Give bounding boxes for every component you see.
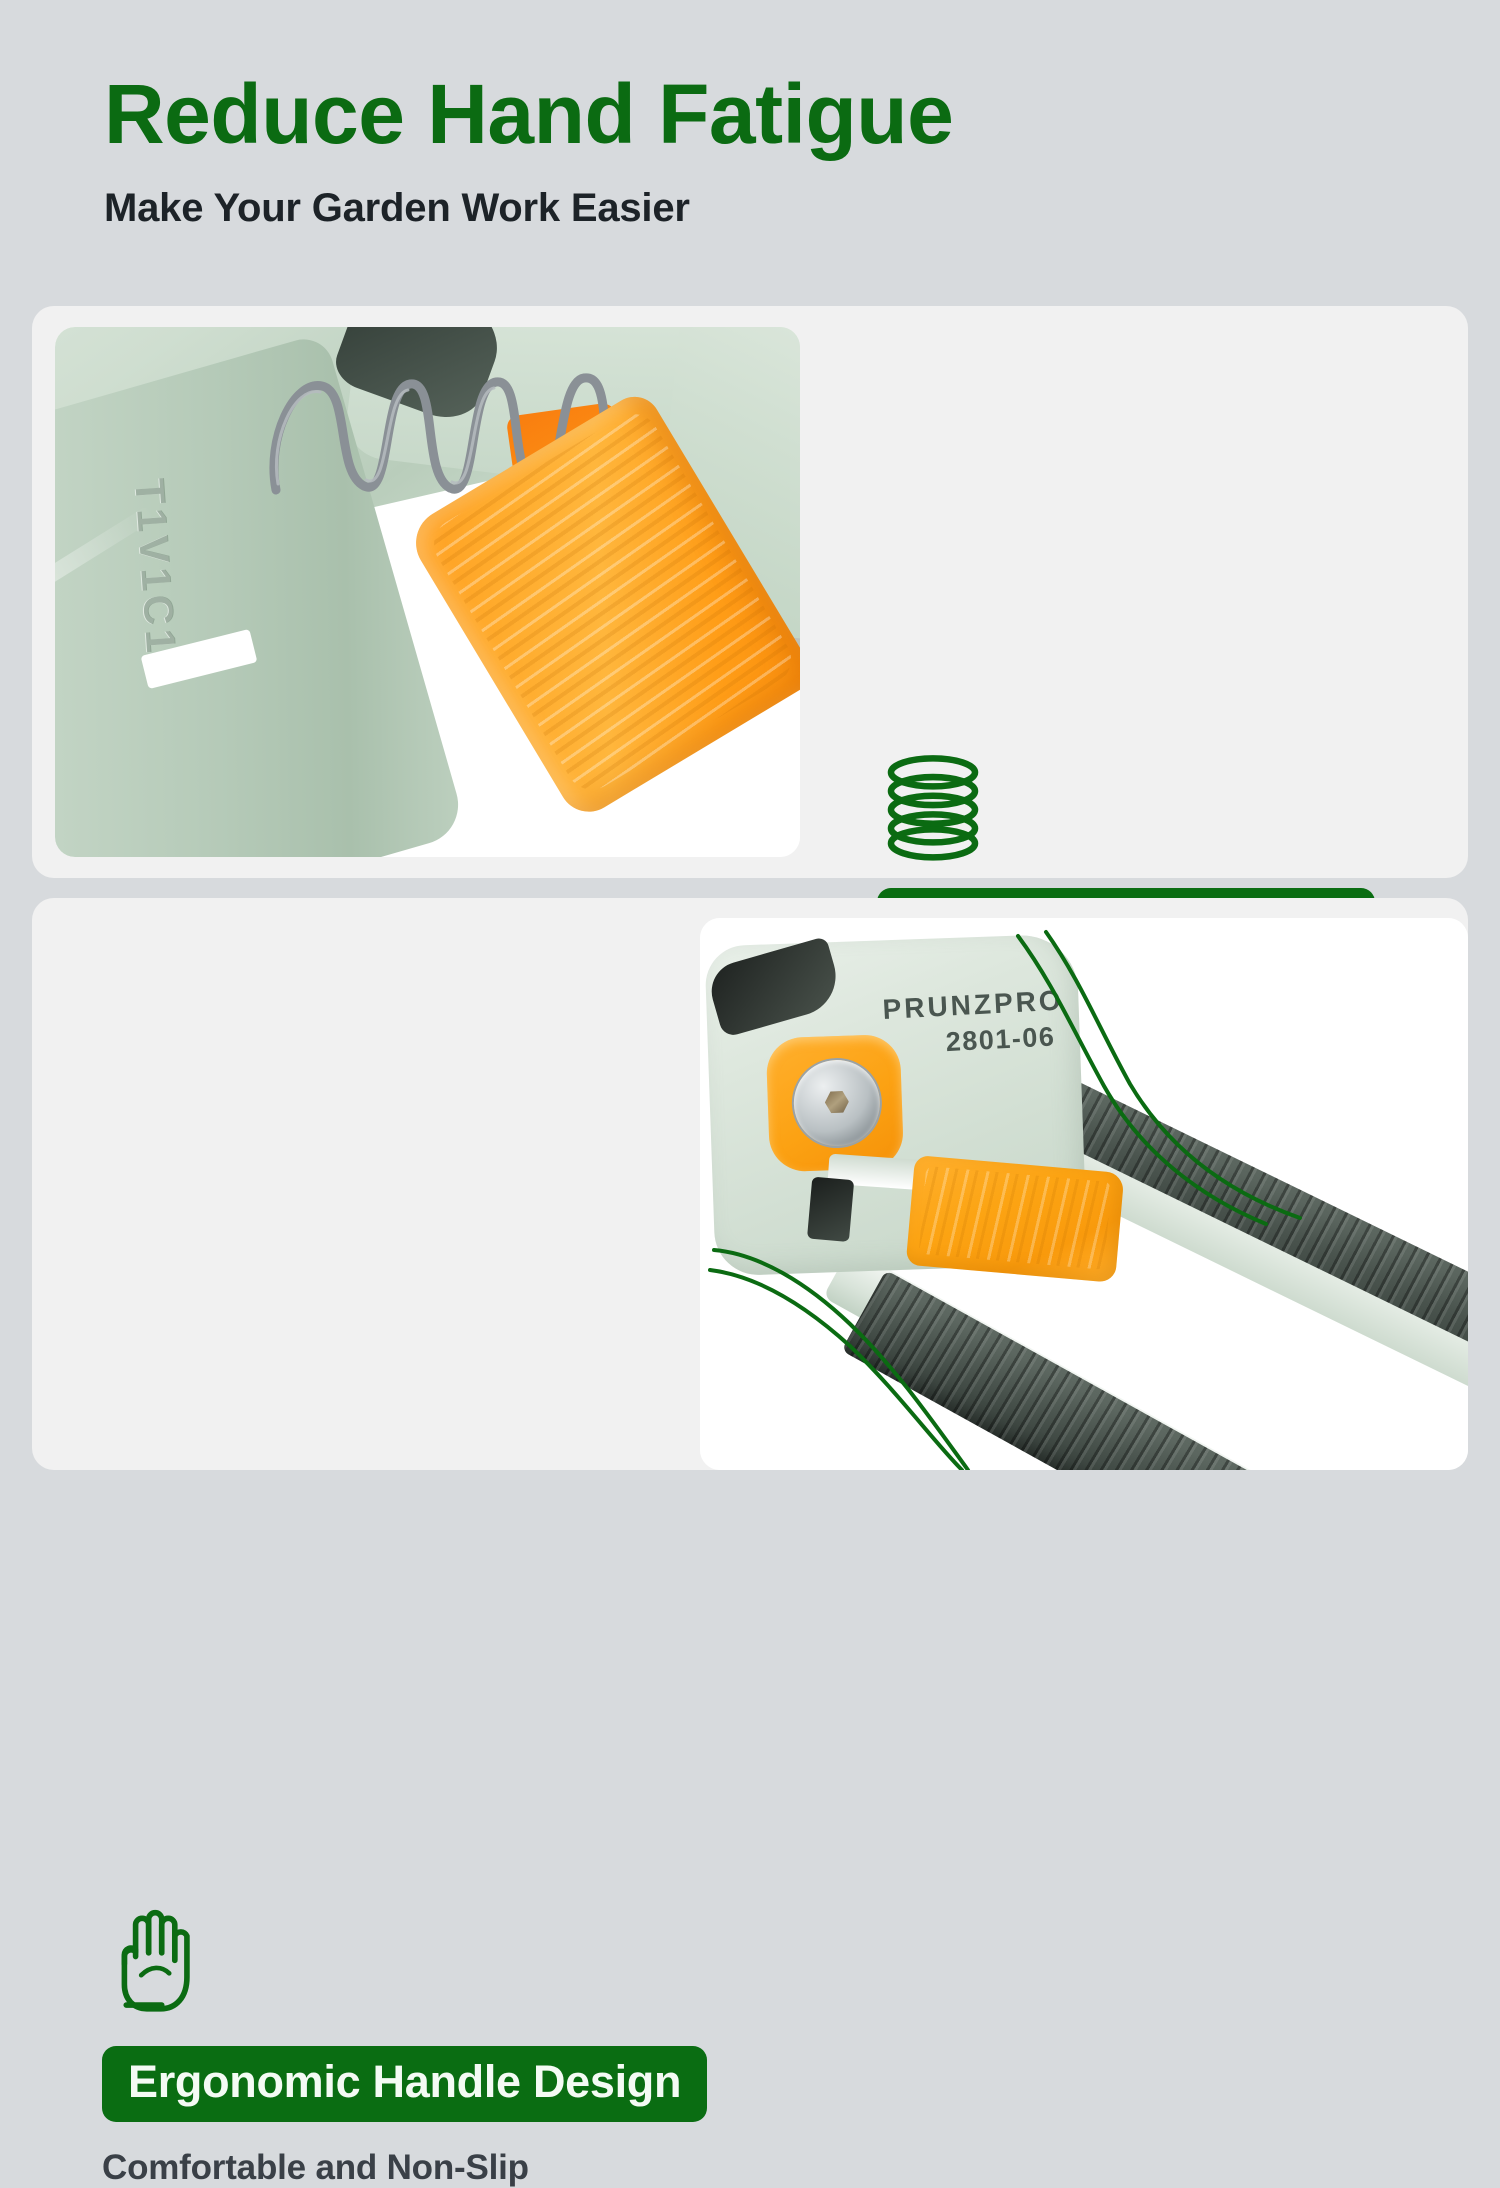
pivot-bolt-ring: [766, 1034, 905, 1173]
brand-label: PRUNZPRO: [882, 985, 1065, 1026]
black-stopper: [807, 1177, 854, 1242]
page-title: Reduce Hand Fatigue: [104, 72, 1404, 156]
pruner-handle-photo: PRUNZPRO 2801-06: [700, 918, 1468, 1470]
spring-coil-icon: [877, 750, 1457, 862]
feature-card-handle: Ergonomic Handle Design Comfortable and …: [32, 898, 1468, 1470]
header-block: Reduce Hand Fatigue Make Your Garden Wor…: [104, 72, 1404, 231]
pivot-bolt-disc: [792, 1059, 881, 1148]
pruner-head-body: PRUNZPRO 2801-06: [704, 934, 1087, 1277]
page-subtitle: Make Your Garden Work Easier: [104, 186, 1404, 231]
blade-shadow: [705, 936, 845, 1038]
feature-card-spring: T1V1C1: [32, 306, 1468, 878]
hex-screw-icon: [824, 1090, 849, 1115]
feature-block-handle: Ergonomic Handle Design Comfortable and …: [102, 1908, 722, 2188]
model-number-label: 2801-06: [945, 1021, 1056, 1058]
feature-badge-handle: Ergonomic Handle Design: [102, 2046, 707, 2122]
spring-macro-photo: T1V1C1: [55, 327, 800, 857]
orange-safety-latch: [906, 1155, 1125, 1283]
open-hand-icon: [102, 1908, 722, 2020]
feature-subtitle-handle: Comfortable and Non-Slip: [102, 2148, 722, 2188]
